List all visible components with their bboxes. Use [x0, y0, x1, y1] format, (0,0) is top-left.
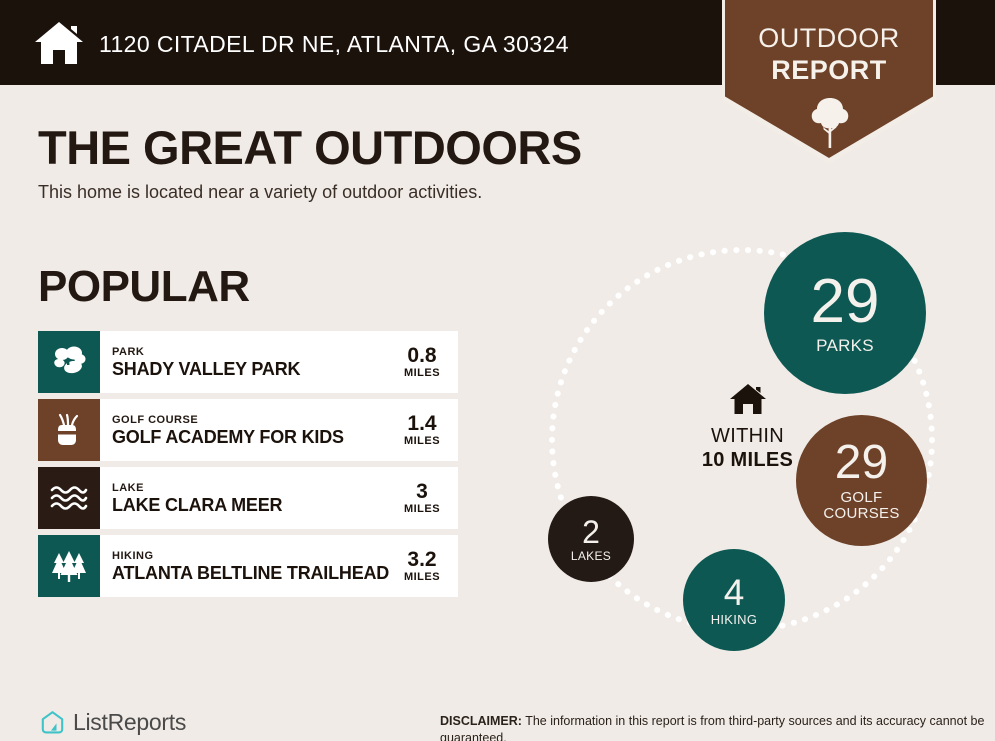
listreports-logo-text: ListReports — [73, 709, 186, 736]
list-item[interactable]: GOLF COURSE GOLF ACADEMY FOR KIDS 1.4 MI… — [38, 399, 458, 461]
list-item-text: HIKING ATLANTA BELTLINE TRAILHEAD — [100, 535, 396, 597]
listreports-house-logo-icon — [40, 710, 65, 735]
bubble-parks[interactable]: 29 PARKS — [764, 232, 926, 394]
distance-unit: MILES — [404, 367, 440, 380]
bubble-hiking-value: 4 — [724, 574, 745, 611]
tree-icon — [809, 96, 851, 150]
bubble-lakes[interactable]: 2 LAKES — [548, 496, 634, 582]
bubble-golf-label-line2: COURSES — [823, 506, 899, 522]
property-address: 1120 CITADEL DR NE, ATLANTA, GA 30324 — [99, 31, 569, 58]
house-icon — [33, 20, 85, 66]
distance-value: 3.2 — [407, 548, 436, 571]
bubble-parks-label: PARKS — [816, 337, 874, 355]
list-item-name: GOLF ACADEMY FOR KIDS — [112, 427, 396, 448]
distance-value: 0.8 — [407, 344, 436, 367]
bubble-lakes-label: LAKES — [571, 550, 611, 563]
list-item-text: GOLF COURSE GOLF ACADEMY FOR KIDS — [100, 399, 396, 461]
distance-value: 3 — [416, 480, 428, 503]
water-waves-icon — [38, 467, 100, 529]
list-item-category: GOLF COURSE — [112, 413, 396, 427]
list-item-category: HIKING — [112, 549, 396, 563]
list-item[interactable]: PARK SHADY VALLEY PARK 0.8 MILES — [38, 331, 458, 393]
distance-unit: MILES — [404, 503, 440, 516]
page-title: THE GREAT OUTDOORS — [38, 120, 582, 175]
popular-places-list: PARK SHADY VALLEY PARK 0.8 MILES GOLF — [38, 331, 458, 603]
list-item-category: LAKE — [112, 481, 396, 495]
badge-title-line1: OUTDOOR — [758, 23, 900, 53]
list-item-category: PARK — [112, 345, 396, 359]
chart-center-label: WITHIN 10 MILES — [650, 383, 845, 472]
bubble-golf-label-line1: GOLF — [840, 490, 882, 506]
list-item-name: ATLANTA BELTLINE TRAILHEAD — [112, 563, 396, 584]
park-trees-icon — [38, 331, 100, 393]
outdoor-report-badge: OUTDOOR REPORT — [713, 0, 945, 178]
list-item-text: PARK SHADY VALLEY PARK — [100, 331, 396, 393]
distance-unit: MILES — [404, 571, 440, 584]
list-item-distance: 3.2 MILES — [396, 535, 458, 597]
chart-center-line1: WITHIN — [650, 424, 845, 448]
chart-center-line2: 10 MILES — [650, 448, 845, 472]
list-item-name: LAKE CLARA MEER — [112, 495, 396, 516]
list-item[interactable]: HIKING ATLANTA BELTLINE TRAILHEAD 3.2 MI… — [38, 535, 458, 597]
list-item-distance: 3 MILES — [396, 467, 458, 529]
bubble-lakes-value: 2 — [582, 516, 600, 548]
distance-unit: MILES — [404, 435, 440, 448]
list-item-distance: 1.4 MILES — [396, 399, 458, 461]
outdoor-report-page: 1120 CITADEL DR NE, ATLANTA, GA 30324 OU… — [0, 0, 995, 741]
disclaimer-text: The information in this report is from t… — [440, 714, 984, 741]
disclaimer-label: DISCLAIMER: — [440, 714, 522, 728]
listreports-logo[interactable]: ListReports — [40, 709, 186, 736]
badge-title: OUTDOOR REPORT — [713, 22, 945, 86]
page-subtitle: This home is located near a variety of o… — [38, 182, 482, 203]
bubble-parks-value: 29 — [811, 271, 880, 333]
list-item-distance: 0.8 MILES — [396, 331, 458, 393]
badge-title-line2: REPORT — [713, 54, 945, 86]
bubble-hiking-label: HIKING — [711, 613, 758, 627]
list-item-text: LAKE LAKE CLARA MEER — [100, 467, 396, 529]
golf-bag-icon — [38, 399, 100, 461]
list-item[interactable]: LAKE LAKE CLARA MEER 3 MILES — [38, 467, 458, 529]
pine-trees-icon — [38, 535, 100, 597]
section-heading-popular: POPULAR — [38, 262, 250, 312]
list-item-name: SHADY VALLEY PARK — [112, 359, 396, 380]
disclaimer: DISCLAIMER: The information in this repo… — [440, 713, 985, 741]
bubble-hiking[interactable]: 4 HIKING — [683, 549, 785, 651]
house-icon — [729, 383, 767, 416]
distance-value: 1.4 — [407, 412, 436, 435]
within-10-miles-bubble-chart: 29 PARKS 29 GOLF COURSES 4 HIKING 2 LAKE… — [520, 215, 975, 665]
